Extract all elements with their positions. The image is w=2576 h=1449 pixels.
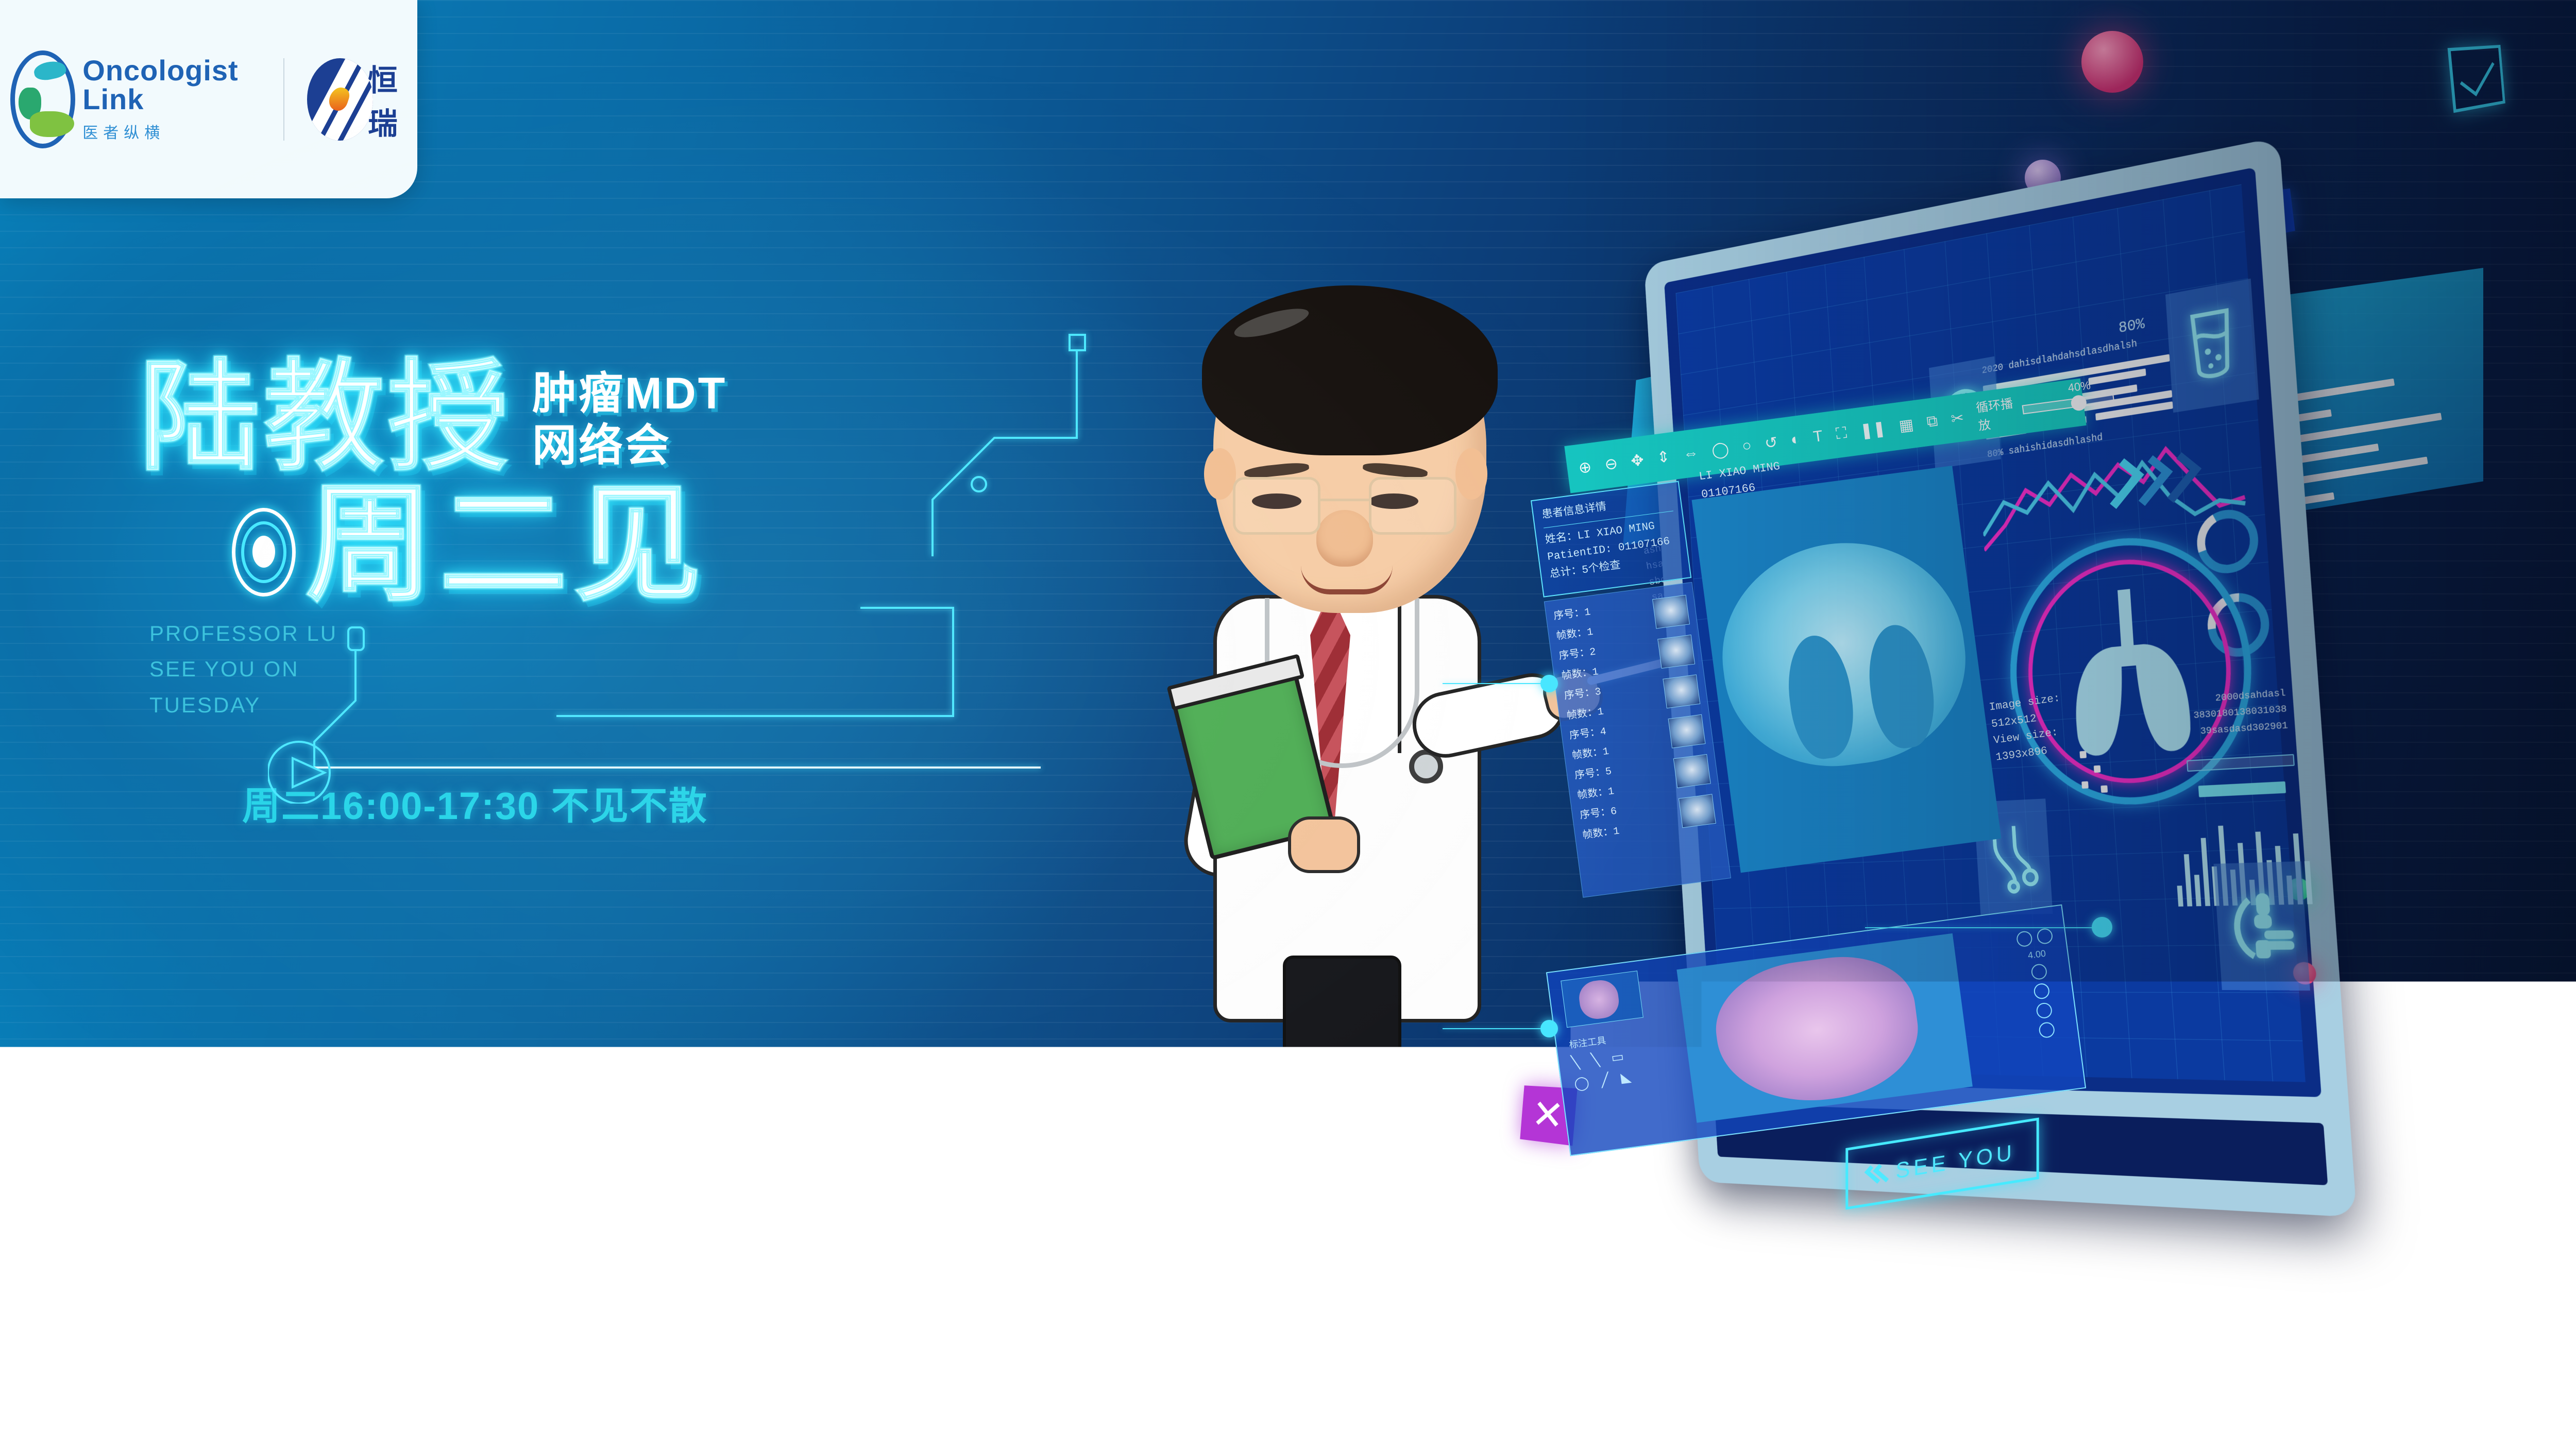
chevron-group-icon [2105, 454, 2193, 507]
holographic-screens: + ✕ ashdaldhsalhsalshaslhascl hsalcslhas… [1535, 10, 2576, 1360]
play-percent: 40% [2067, 379, 2091, 395]
flip-vertical-icon[interactable]: ⇕ [1656, 447, 1671, 467]
tuesday-label: TUESDAY [2107, 1123, 2308, 1198]
grid-icon[interactable]: ▦ [1898, 415, 1915, 435]
check-tile-icon [2448, 45, 2505, 113]
hengrui-logo: 恒瑞 [307, 56, 417, 143]
node-connector [1443, 683, 1546, 684]
zoom-in-icon[interactable]: ⊕ [1578, 457, 1592, 477]
pathology-thumbnail[interactable] [1561, 970, 1643, 1028]
play-slider[interactable]: 40% [2022, 393, 2114, 414]
poster-canvas: Oncologist Link 医者纵横 恒瑞 陆教授 肿瘤MDT 网络会 周二… [0, 0, 2576, 1449]
ct-scan-image [1709, 529, 1978, 780]
logo-divider [283, 58, 284, 141]
circle-icon[interactable]: ○ [1741, 437, 1752, 455]
node-connector [1443, 1028, 1546, 1029]
logo-secondary-cn: 恒瑞 [368, 56, 417, 143]
handwritten-signature [914, 1066, 1131, 1185]
flip-horizontal-icon[interactable]: ⇔ [1682, 444, 1700, 464]
patient-info-card: 患者信息详情 姓名：LI XIAO MING PatientID: 011071… [1531, 481, 1691, 598]
zoom-in-icon[interactable] [2036, 928, 2054, 945]
signature-organization: 上海交通大学附属胸科医院 [891, 1192, 1221, 1222]
undo-icon[interactable]: ↺ [1764, 433, 1778, 453]
logo-primary-name: Oncologist Link [82, 56, 261, 114]
series-thumbnail[interactable] [1657, 635, 1695, 669]
hengrui-mark-icon [307, 58, 373, 141]
contrast-icon[interactable]: ◐ [1790, 431, 1801, 449]
pathology-tools[interactable]: 标注工具 ╲ ╲ ▭ ◯ ╱ ◣ [1568, 1030, 1637, 1095]
layer-1-icon[interactable] [2030, 963, 2048, 981]
series-list[interactable]: 序号：1 帧数：1 序号：2 帧数：1 序号：3 帧数：1 [1544, 582, 1731, 898]
circuit-decoration [268, 587, 1072, 804]
eye-icon [232, 508, 296, 596]
pathology-zoom-controls[interactable]: 4.00 [2015, 928, 2065, 1040]
text-icon[interactable]: T [1812, 428, 1824, 446]
headline-side-line1: 肿瘤MDT [532, 368, 727, 420]
link-icon[interactable]: ⧉ [1926, 412, 1939, 431]
scissors-icon[interactable]: ✂ [1950, 408, 1965, 428]
layer-4-icon[interactable] [2038, 1021, 2056, 1039]
double-chevron-right-icon [2317, 1125, 2358, 1154]
layer-2-icon[interactable] [2033, 982, 2050, 1000]
series-thumbnail[interactable] [1652, 595, 1690, 629]
pan-icon[interactable]: ✥ [1630, 451, 1645, 470]
headline-line1: 陆教授 [139, 355, 512, 479]
test-tube-icon [2165, 279, 2259, 413]
logo-primary-cn: 医者纵横 [82, 120, 261, 143]
node-connector [1865, 927, 2097, 928]
series-thumbnail[interactable] [1663, 674, 1700, 708]
circuit-decoration-right [922, 330, 1139, 567]
zoom-value: 4.00 [2027, 948, 2046, 961]
brand-logo-bar: Oncologist Link 医者纵横 恒瑞 [0, 0, 417, 198]
layer-3-icon[interactable] [2036, 1002, 2053, 1019]
signature-block: 教授 上海交通大学附属胸科医院 [891, 1066, 1221, 1222]
ct-image-viewport[interactable] [1692, 466, 2002, 873]
ellipse-icon[interactable]: ◯ [1710, 439, 1730, 459]
zoom-out-icon[interactable]: ⊖ [1604, 454, 1619, 474]
oncologist-link-logo: Oncologist Link 医者纵横 [0, 50, 261, 148]
see-you-label: SEE YOU [1896, 1139, 2015, 1183]
image-metadata: Image size: 512x512 View size: 1393x896 [1988, 687, 2099, 766]
globe-icon [10, 50, 75, 148]
pathology-slide[interactable] [1676, 933, 1973, 1123]
slider-knob[interactable] [2070, 394, 2088, 412]
double-chevron-left-icon [1869, 1163, 1887, 1185]
dicom-viewer: 患者信息详情 姓名：LI XIAO MING PatientID: 011071… [1529, 420, 2118, 929]
headline-side-line2: 网络会 [532, 420, 727, 472]
data-lines: 2000dsahdasl 3830180138031038 39sasdasd3… [2192, 685, 2289, 740]
series-thumbnail[interactable] [1673, 754, 1711, 788]
zoom-out-icon[interactable] [2015, 930, 2033, 948]
series-count: 帧数：1 [1581, 822, 1620, 846]
fullscreen-icon[interactable]: ⛶ [1835, 424, 1848, 443]
pause-icon[interactable]: ❚❚ [1859, 419, 1887, 440]
signature-title: 教授 [1136, 1138, 1198, 1180]
series-thumbnail[interactable] [1679, 794, 1716, 828]
microscope-icon [2213, 861, 2310, 991]
sphere-pink-decor [2081, 31, 2143, 93]
series-thumbnail[interactable] [1668, 714, 1706, 748]
